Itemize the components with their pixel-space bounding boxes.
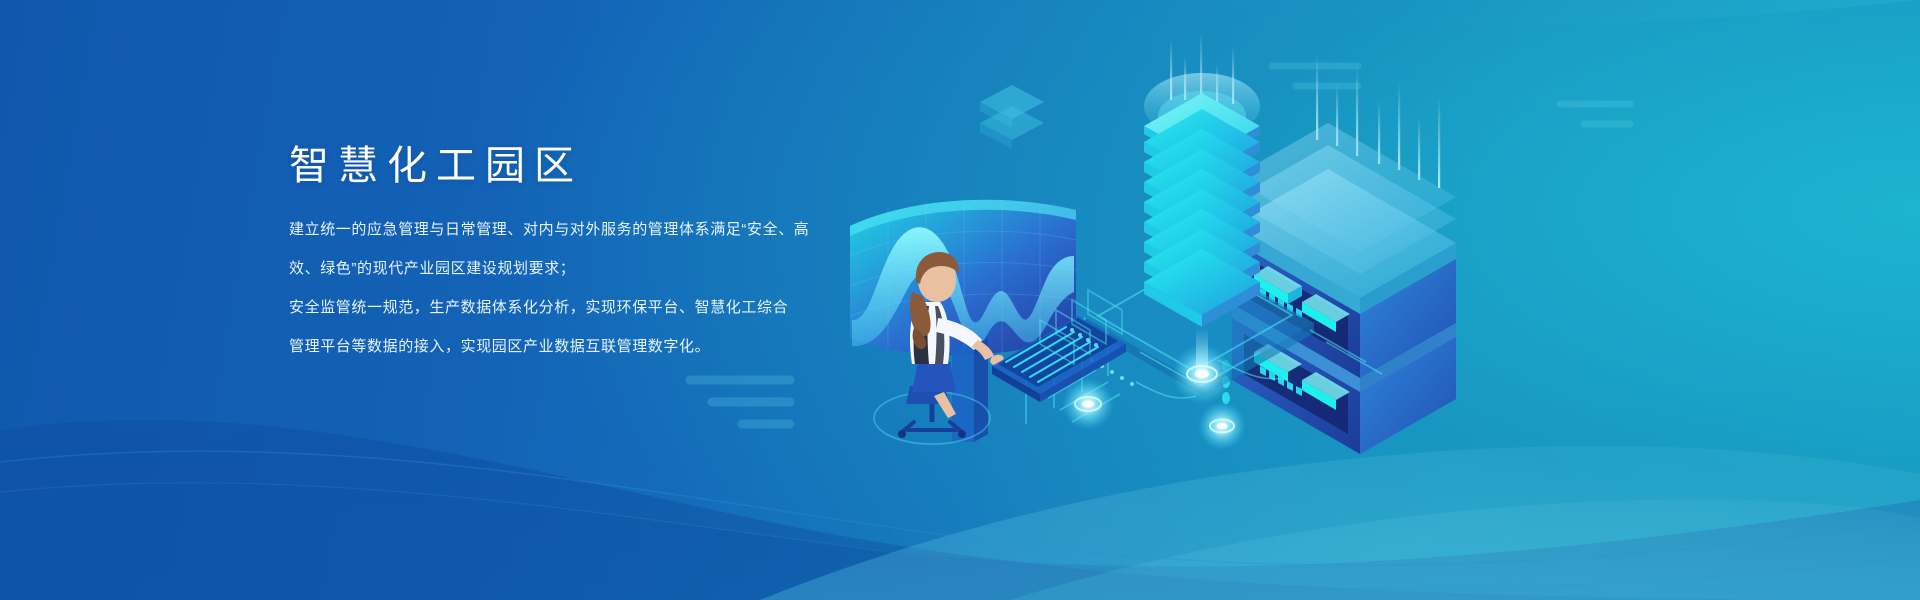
description-line-1: 建立统一的应急管理与日常管理、对内与对外服务的管理体系满足“安全、高 [289, 215, 909, 245]
description-line-2: 效、绿色”的现代产业园区建设规划要求； [289, 254, 909, 284]
hero-banner: 智慧化工园区 建立统一的应急管理与日常管理、对内与对外服务的管理体系满足“安全、… [0, 0, 1920, 600]
description-line-4: 管理平台等数据的接入，实现园区产业数据互联管理数字化。 [289, 332, 909, 362]
hero-illustration [840, 30, 1460, 470]
glow-node-right-icon [1198, 402, 1246, 450]
page-title: 智慧化工园区 [289, 143, 909, 189]
hero-copy: 智慧化工园区 建立统一的应急管理与日常管理、对内与对外服务的管理体系满足“安全、… [289, 143, 909, 362]
glow-node-left-icon [1062, 378, 1114, 430]
floating-plates-icon [980, 85, 1044, 149]
hero-description: 建立统一的应急管理与日常管理、对内与对外服务的管理体系满足“安全、高 效、绿色”… [289, 215, 909, 362]
description-line-3: 安全监管统一规范，生产数据体系化分析，实现环保平台、智慧化工综合 [289, 293, 909, 323]
glow-node-center-icon [1172, 344, 1232, 404]
